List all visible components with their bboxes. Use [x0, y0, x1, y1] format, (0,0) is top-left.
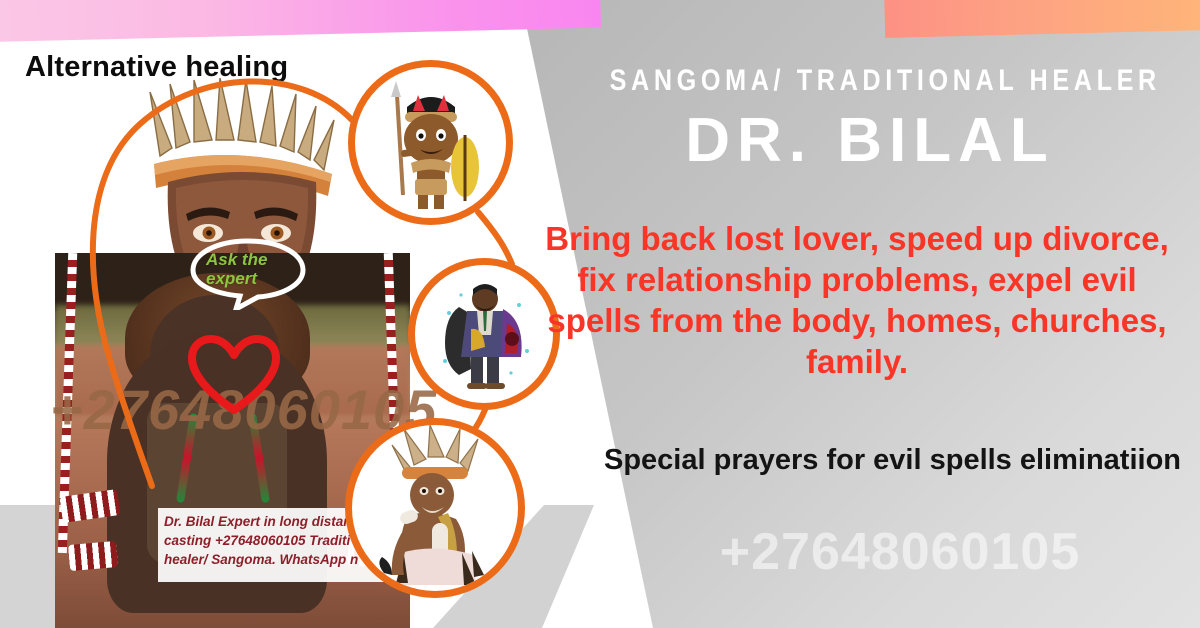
healer-name: DR. BILAL: [560, 108, 1180, 173]
bottom-left-gray-band: [0, 505, 58, 628]
special-prayers-text: Special prayers for evil spells eliminat…: [600, 440, 1185, 481]
kicker-text: SANGOMA/ TRADITIONAL HEALER: [610, 66, 1131, 96]
caption-line-3: healer/ Sangoma. WhatsApp n: [164, 550, 385, 569]
services-text: Bring back lost lover, speed up divorce,…: [542, 218, 1172, 382]
pink-accent-band: [0, 0, 601, 42]
kneeling-dancer-icon: [352, 425, 518, 591]
speech-bubble-icon: Ask the expert: [188, 238, 308, 310]
poster-canvas: Alternative healing: [0, 0, 1200, 628]
badge-kneeling-dancer[interactable]: [345, 418, 525, 598]
heart-outline-icon: [188, 335, 280, 415]
zulu-warrior-icon: [355, 67, 507, 219]
phone-watermark-right: +27648060105: [600, 526, 1200, 578]
speech-bubble-label: Ask the expert: [206, 250, 298, 288]
badge-cloaked-healer[interactable]: [408, 258, 560, 410]
cloaked-healer-icon: [415, 265, 553, 403]
badge-zulu-warrior[interactable]: [348, 60, 513, 225]
